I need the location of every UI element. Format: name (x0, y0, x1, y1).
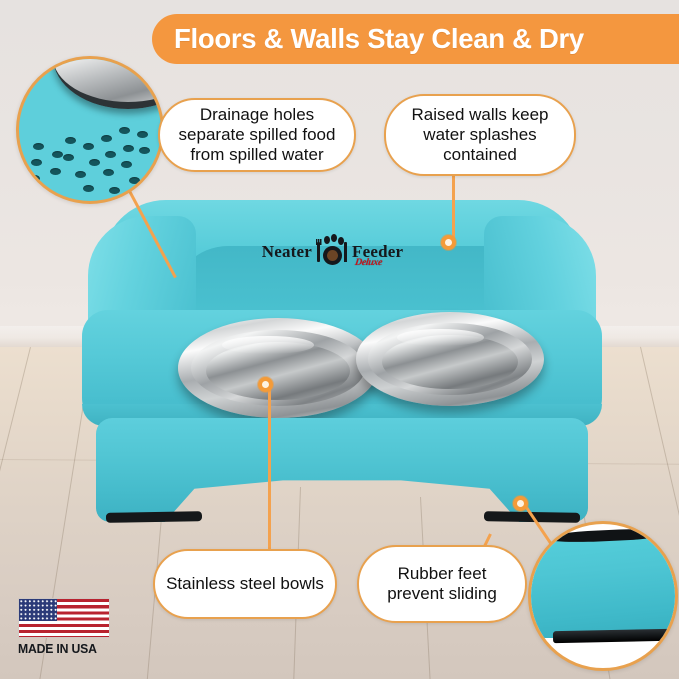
callout-text: Drainage holes separate spilled food fro… (170, 105, 344, 165)
callout-rubber-feet[interactable]: Rubber feet prevent sliding (357, 545, 527, 623)
drainage-hole (137, 131, 148, 138)
drainage-hole (139, 147, 150, 154)
drainage-hole (119, 127, 130, 134)
callout-text: Raised walls keep water splashes contain… (396, 105, 564, 165)
paw-toe (331, 234, 337, 242)
callout-dot-walls (441, 235, 456, 250)
callout-dot-bowls (258, 377, 273, 392)
drainage-hole (121, 161, 132, 168)
knife-icon (344, 242, 347, 262)
stainless-bowl-left (178, 318, 378, 418)
drainage-holes-inset (16, 56, 164, 204)
logo-deluxe-script: Deluxe (354, 257, 383, 268)
drainage-hole (75, 171, 86, 178)
rubber-foot-left (106, 511, 202, 523)
drainage-hole (103, 169, 114, 176)
connector-bowls (268, 388, 271, 554)
callout-stainless-bowls[interactable]: Stainless steel bowls (153, 549, 337, 619)
inset-feeder-leg (528, 534, 678, 638)
callout-text: Rubber feet prevent sliding (369, 564, 515, 604)
callout-dot-feet (513, 496, 528, 511)
drainage-hole (65, 137, 76, 144)
callout-raised-walls[interactable]: Raised walls keep water splashes contain… (384, 94, 576, 176)
flag-stars (19, 599, 57, 621)
drainage-hole (123, 145, 134, 152)
drainage-hole (83, 185, 94, 192)
paw-toe (338, 237, 344, 245)
drainage-hole (52, 151, 63, 158)
infographic-canvas: Neater Feeder Deluxe (0, 0, 679, 679)
drainage-hole (29, 175, 40, 182)
drainage-hole (83, 143, 94, 150)
flag-canton (19, 599, 57, 621)
drainage-hole (109, 187, 120, 194)
callout-text: Stainless steel bowls (166, 574, 324, 594)
callout-drainage-holes[interactable]: Drainage holes separate spilled food fro… (158, 98, 356, 172)
paw-pad-bowl (323, 246, 342, 265)
drainage-hole (101, 135, 112, 142)
paw-toe (324, 236, 330, 244)
drainage-hole (50, 168, 61, 175)
drainage-hole (63, 154, 74, 161)
connector-walls (452, 174, 455, 242)
pet-feeder-product: Neater Feeder Deluxe (60, 190, 620, 535)
us-flag-icon (18, 598, 110, 638)
neater-feeder-logo: Neater Feeder Deluxe (245, 232, 420, 272)
drainage-hole (129, 177, 140, 184)
rubber-feet-inset (528, 521, 678, 671)
inset-bowl-rim (53, 56, 164, 109)
fork-icon (317, 242, 320, 262)
made-in-usa-label: MADE IN USA (18, 641, 110, 656)
header-banner: Floors & Walls Stay Clean & Dry (152, 14, 679, 64)
drainage-hole (105, 151, 116, 158)
paw-bowl-icon (315, 235, 349, 269)
made-in-usa-badge: MADE IN USA (18, 598, 116, 660)
stainless-bowl-right (356, 312, 544, 406)
bowl-gloss (397, 329, 483, 346)
drainage-hole (31, 159, 42, 166)
inset-rubber-foot-strip (553, 629, 671, 643)
drainage-hole (89, 159, 100, 166)
header-title: Floors & Walls Stay Clean & Dry (174, 23, 584, 55)
logo-word-neater: Neater (262, 242, 312, 262)
drainage-hole (33, 143, 44, 150)
bowl-gloss (222, 336, 314, 354)
